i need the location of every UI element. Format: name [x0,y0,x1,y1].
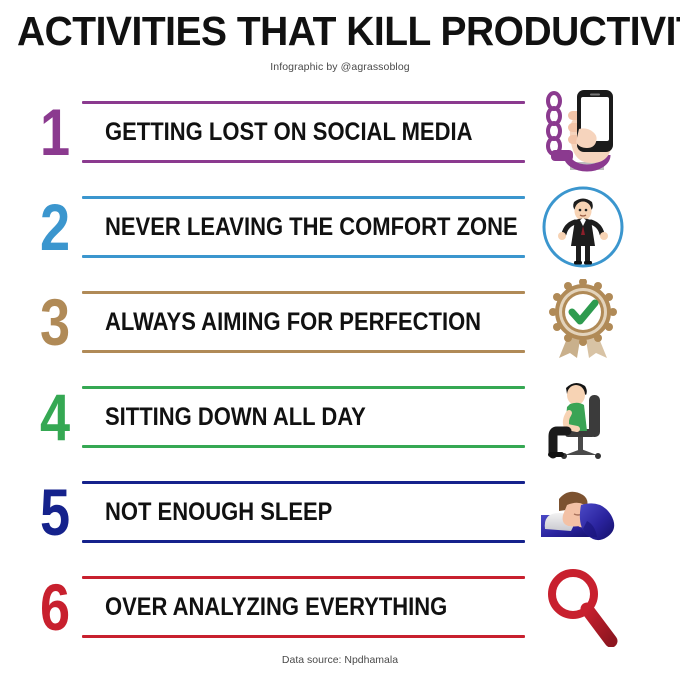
rule-top [82,291,525,294]
list-item: 2 NEVER LEAVING THE COMFORT ZONE [0,179,680,274]
rank-number: 1 [40,99,83,165]
activity-label: OVER ANALYZING EVERYTHING [105,594,447,620]
rule-bottom [82,255,525,258]
activity-bar: NEVER LEAVING THE COMFORT ZONE [82,196,525,258]
rule-bottom [82,635,525,638]
activity-bar: OVER ANALYZING EVERYTHING [82,576,525,638]
activity-bar: GETTING LOST ON SOCIAL MEDIA [82,101,525,163]
list-item: 6 OVER ANALYZING EVERYTHING [0,559,680,654]
poster-header: ACTIVITIES THAT KILL PRODUCTIVITY Infogr… [0,10,680,73]
rule-top [82,196,525,199]
activity-bar: ALWAYS AIMING FOR PERFECTION [82,291,525,353]
rank-number: 2 [40,194,83,260]
list-item: 5 NOT ENOUGH SLEEP [0,464,680,559]
poster-subtitle: Infographic by @agrassoblog [0,61,680,73]
rule-bottom [82,350,525,353]
page-title: ACTIVITIES THAT KILL PRODUCTIVITY [17,10,663,53]
data-source-note: Data source: Npdhamala [0,654,680,666]
list-item: 1 GETTING LOST ON SOCIAL MEDIA [0,84,680,179]
sleeping-person-in-bed-icon [533,468,633,556]
rank-number: 5 [40,479,83,545]
rule-top [82,386,525,389]
rank-number: 3 [40,289,83,355]
rule-bottom [82,160,525,163]
activity-label: GETTING LOST ON SOCIAL MEDIA [105,119,472,145]
rule-top [82,576,525,579]
activity-label: SITTING DOWN ALL DAY [105,404,366,430]
hand-holding-phone-with-chain-icon [533,88,633,176]
rank-number: 6 [40,574,83,640]
activity-list: 1 GETTING LOST ON SOCIAL MEDIA [0,84,680,654]
list-item: 4 SITTING DOWN ALL DAY [0,369,680,464]
rule-top [82,481,525,484]
activity-bar: SITTING DOWN ALL DAY [82,386,525,448]
rule-bottom [82,540,525,543]
person-sitting-on-office-chair-icon [533,373,633,461]
activity-bar: NOT ENOUGH SLEEP [82,481,525,543]
infographic-poster: ACTIVITIES THAT KILL PRODUCTIVITY Infogr… [0,0,680,680]
activity-label: ALWAYS AIMING FOR PERFECTION [105,309,481,335]
list-item: 3 ALWAYS AIMING FOR PERFECTION [0,274,680,369]
man-shrugging-in-circle-icon [533,183,633,271]
activity-label: NEVER LEAVING THE COMFORT ZONE [105,214,518,240]
activity-label: NOT ENOUGH SLEEP [105,499,332,525]
magnifying-glass-icon [533,563,633,651]
rank-number: 4 [40,384,83,450]
award-rosette-check-icon [533,278,633,366]
rule-bottom [82,445,525,448]
rule-top [82,101,525,104]
